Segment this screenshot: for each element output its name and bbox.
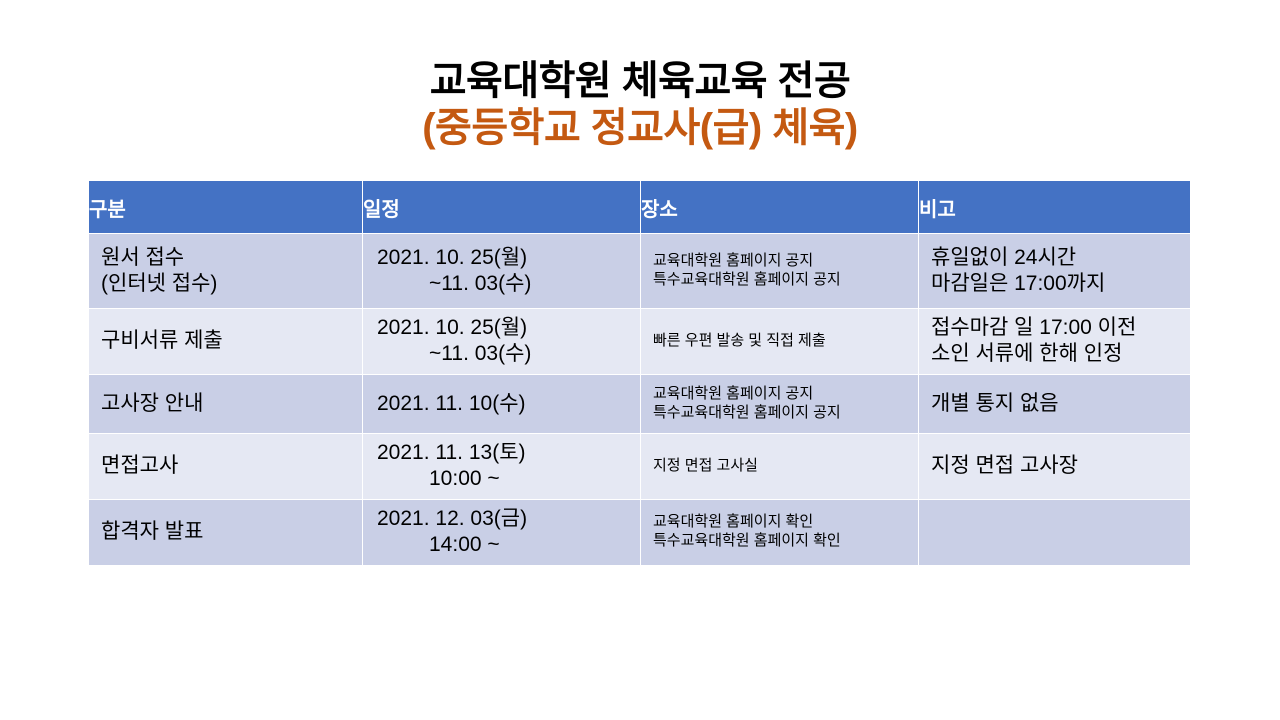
cell-jangso: 지정 면접 고사실: [641, 433, 919, 499]
cell-gubun: 면접고사: [89, 433, 363, 499]
cell-iljeong-text: 2021. 10. 25(월)~11. 03(수): [363, 309, 640, 374]
title-line-primary: 교육대학원 체육교육 전공: [0, 58, 1280, 105]
cell-gubun: 고사장 안내: [89, 374, 363, 433]
column-header-jangso: 장소: [641, 181, 919, 234]
cell-iljeong-text: 2021. 11. 10(수): [363, 385, 640, 423]
cell-jangso-text: 지정 면접 고사실: [641, 451, 918, 482]
date-line-1: 2021. 12. 03(금): [377, 507, 527, 530]
table-row: 구비서류 제출 2021. 10. 25(월)~11. 03(수) 빠른 우편 …: [89, 309, 1191, 375]
cell-gubun: 합격자 발표: [89, 499, 363, 565]
cell-bigo-text: [919, 526, 1190, 538]
cell-bigo: 접수마감 일 17:00 이전 소인 서류에 한해 인정: [919, 309, 1191, 375]
date-line-2: 10:00 ~: [377, 466, 630, 492]
cell-bigo: 개별 통지 없음: [919, 374, 1191, 433]
date-line-2: ~11. 03(수): [377, 341, 630, 367]
date-line-1: 2021. 11. 13(토): [377, 441, 526, 464]
table-header-row: 구분 일정 장소 비고: [89, 181, 1191, 234]
cell-jangso-text: 교육대학원 홈페이지 공지 특수교육대학원 홈페이지 공지: [641, 246, 918, 296]
cell-iljeong: 2021. 10. 25(월)~11. 03(수): [363, 309, 641, 375]
cell-bigo-text: 개별 통지 없음: [919, 385, 1190, 423]
table-row: 합격자 발표 2021. 12. 03(금)14:00 ~ 교육대학원 홈페이지…: [89, 499, 1191, 565]
date-line-1: 2021. 11. 10(수): [377, 392, 526, 415]
cell-gubun-text: 합격자 발표: [89, 513, 362, 551]
cell-iljeong: 2021. 10. 25(월)~11. 03(수): [363, 234, 641, 309]
date-line-1: 2021. 10. 25(월): [377, 316, 527, 339]
cell-gubun-text: 고사장 안내: [89, 385, 362, 423]
cell-iljeong: 2021. 12. 03(금)14:00 ~: [363, 499, 641, 565]
schedule-table: 구분 일정 장소 비고 원서 접수 (인터넷 접수) 2021. 10. 25(…: [88, 180, 1191, 566]
column-header-gubun: 구분: [89, 181, 363, 234]
cell-iljeong-text: 2021. 11. 13(토)10:00 ~: [363, 434, 640, 499]
cell-iljeong-text: 2021. 12. 03(금)14:00 ~: [363, 500, 640, 565]
cell-bigo: 휴일없이 24시간 마감일은 17:00까지: [919, 234, 1191, 309]
cell-iljeong: 2021. 11. 10(수): [363, 374, 641, 433]
cell-gubun-text: 구비서류 제출: [89, 322, 362, 360]
cell-jangso-text: 교육대학원 홈페이지 공지 특수교육대학원 홈페이지 공지: [641, 379, 918, 429]
table-row: 면접고사 2021. 11. 13(토)10:00 ~ 지정 면접 고사실 지정…: [89, 433, 1191, 499]
date-line-1: 2021. 10. 25(월): [377, 246, 527, 269]
cell-jangso: 교육대학원 홈페이지 공지 특수교육대학원 홈페이지 공지: [641, 374, 919, 433]
cell-gubun-text: 면접고사: [89, 447, 362, 485]
cell-jangso: 교육대학원 홈페이지 확인 특수교육대학원 홈페이지 확인: [641, 499, 919, 565]
column-header-iljeong: 일정: [363, 181, 641, 234]
cell-jangso-text: 빠른 우편 발송 및 직접 제출: [641, 326, 918, 357]
cell-iljeong-text: 2021. 10. 25(월)~11. 03(수): [363, 239, 640, 304]
cell-jangso: 교육대학원 홈페이지 공지 특수교육대학원 홈페이지 공지: [641, 234, 919, 309]
slide-canvas: 교육대학원 체육교육 전공 (중등학교 정교사(급) 체육) 구분 일정 장소 …: [0, 0, 1280, 720]
table-header: 구분 일정 장소 비고: [89, 181, 1191, 234]
cell-bigo: [919, 499, 1191, 565]
slide-title: 교육대학원 체육교육 전공 (중등학교 정교사(급) 체육): [0, 58, 1280, 152]
table-row: 고사장 안내 2021. 11. 10(수) 교육대학원 홈페이지 공지 특수교…: [89, 374, 1191, 433]
table-body: 원서 접수 (인터넷 접수) 2021. 10. 25(월)~11. 03(수)…: [89, 234, 1191, 566]
cell-bigo-text: 휴일없이 24시간 마감일은 17:00까지: [919, 239, 1190, 304]
cell-bigo-text: 지정 면접 고사장: [919, 447, 1190, 485]
date-line-2: 14:00 ~: [377, 532, 630, 558]
cell-jangso: 빠른 우편 발송 및 직접 제출: [641, 309, 919, 375]
cell-bigo-text: 접수마감 일 17:00 이전 소인 서류에 한해 인정: [919, 309, 1190, 374]
table-row: 원서 접수 (인터넷 접수) 2021. 10. 25(월)~11. 03(수)…: [89, 234, 1191, 309]
title-line-secondary: (중등학교 정교사(급) 체육): [0, 105, 1280, 152]
cell-iljeong: 2021. 11. 13(토)10:00 ~: [363, 433, 641, 499]
cell-gubun: 원서 접수 (인터넷 접수): [89, 234, 363, 309]
cell-bigo: 지정 면접 고사장: [919, 433, 1191, 499]
column-header-bigo: 비고: [919, 181, 1191, 234]
cell-gubun: 구비서류 제출: [89, 309, 363, 375]
date-line-2: ~11. 03(수): [377, 271, 630, 297]
cell-jangso-text: 교육대학원 홈페이지 확인 특수교육대학원 홈페이지 확인: [641, 507, 918, 557]
cell-gubun-text: 원서 접수 (인터넷 접수): [89, 239, 362, 304]
